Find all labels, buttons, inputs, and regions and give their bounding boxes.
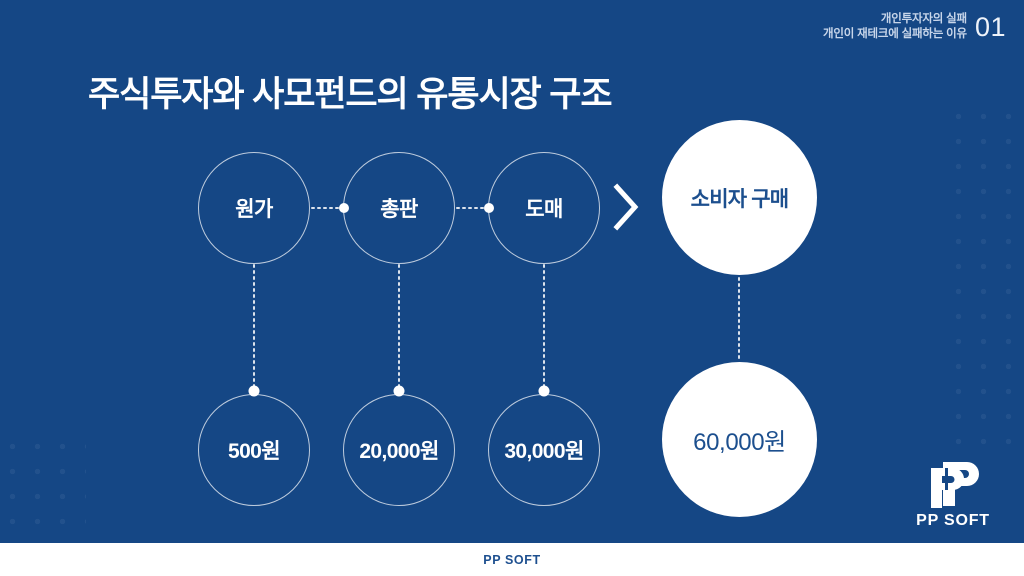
chevron-right-icon — [613, 183, 639, 231]
flow-diagram: 원가 총판 도매 소비자 구매 500원 20,000원 30,000원 60,… — [0, 0, 1024, 576]
logo-wordmark: PP SOFT — [900, 512, 1006, 530]
slide-canvas: 개인투자자의 실패 개인이 재테크에 실패하는 이유 01 주식투자와 사모펀드… — [0, 0, 1024, 576]
price-node-3[interactable]: 60,000원 — [662, 362, 817, 517]
stage-label-1: 총판 — [380, 193, 417, 223]
price-label-2: 30,000원 — [504, 435, 583, 465]
stage-node-1[interactable]: 총판 — [343, 152, 455, 264]
price-label-0: 500원 — [228, 435, 280, 465]
stage-node-3[interactable]: 소비자 구매 — [662, 120, 817, 275]
stage-label-0: 원가 — [235, 193, 272, 223]
price-label-3: 60,000원 — [693, 422, 786, 457]
brand-logo: PP SOFT — [900, 460, 1006, 530]
price-node-0[interactable]: 500원 — [198, 394, 310, 506]
stage-node-0[interactable]: 원가 — [198, 152, 310, 264]
stage-node-2[interactable]: 도매 — [488, 152, 600, 264]
price-label-1: 20,000원 — [359, 435, 438, 465]
pp-monogram-icon — [923, 460, 983, 510]
stage-label-3: 소비자 구매 — [691, 183, 789, 213]
price-node-1[interactable]: 20,000원 — [343, 394, 455, 506]
price-node-2[interactable]: 30,000원 — [488, 394, 600, 506]
slide-footer: PP SOFT — [0, 543, 1024, 576]
footer-brand: PP SOFT — [483, 553, 540, 567]
stage-label-2: 도매 — [525, 193, 562, 223]
